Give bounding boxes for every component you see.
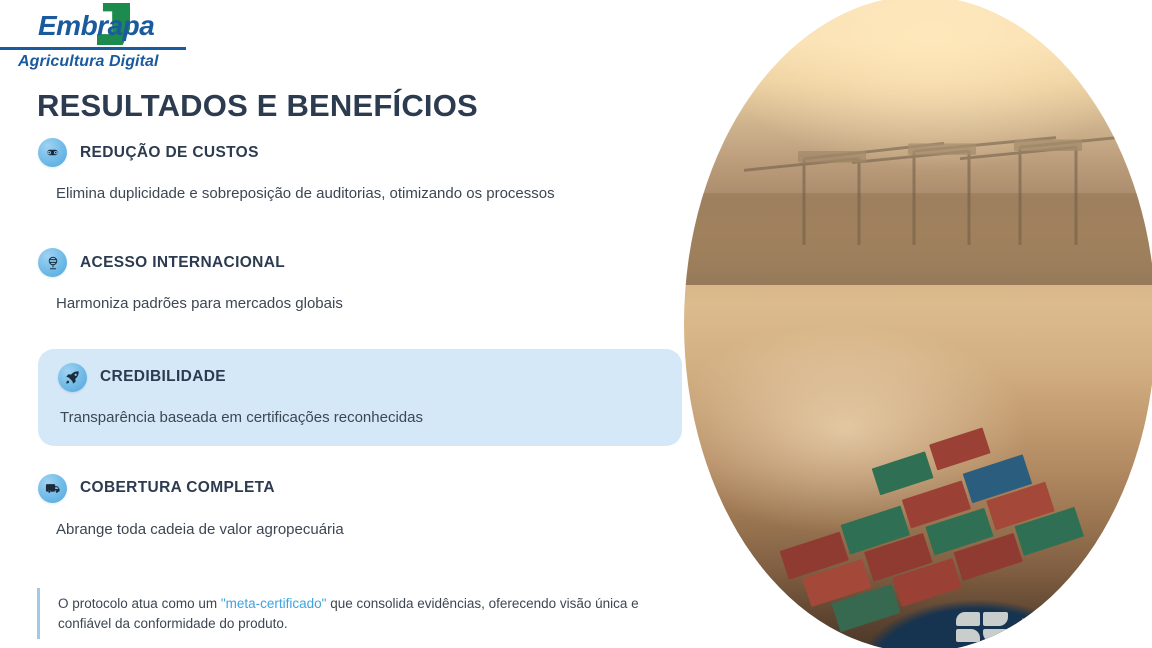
embrapa-logo: Embrapa Agricultura Digital xyxy=(0,0,190,80)
benefit-title: REDUÇÃO DE CUSTOS xyxy=(80,144,259,162)
benefit-header: CREDIBILIDADE xyxy=(58,363,662,392)
benefit-description: Harmoniza padrões para mercados globais xyxy=(56,294,670,314)
benefit-description: Elimina duplicidade e sobreposição de au… xyxy=(56,184,670,204)
benefit-item-reducao-de-custos[interactable]: REDUÇÃO DE CUSTOS Elimina duplicidade e … xyxy=(0,132,690,214)
corporate-mark: Technologies xyxy=(956,612,1140,642)
logo-divider xyxy=(0,47,186,50)
benefit-item-acesso-internacional[interactable]: ACESSO INTERNACIONAL Harmoniza padrões p… xyxy=(0,242,690,324)
benefit-header: ACESSO INTERNACIONAL xyxy=(38,248,670,277)
rocket-icon xyxy=(58,363,87,392)
corporate-mark-label: Technologies xyxy=(1022,616,1140,638)
footnote-part-1: O protocolo atua como um xyxy=(58,596,221,611)
benefit-title: CREDIBILIDADE xyxy=(100,368,226,386)
port-photo: Technologies xyxy=(684,0,1152,648)
footnote-callout: O protocolo atua como um "meta-certifica… xyxy=(37,588,685,639)
benefit-header: REDUÇÃO DE CUSTOS xyxy=(38,138,670,167)
link-chain-icon xyxy=(38,138,67,167)
page-title: RESULTADOS E BENEFÍCIOS xyxy=(37,88,478,124)
benefits-list: REDUÇÃO DE CUSTOS Elimina duplicidade e … xyxy=(0,132,690,560)
benefit-item-credibilidade[interactable]: CREDIBILIDADE Transparência baseada em c… xyxy=(38,349,682,446)
embrapa-subtitle: Agricultura Digital xyxy=(18,53,159,71)
footnote-text: O protocolo atua como um "meta-certifica… xyxy=(58,594,685,633)
benefit-title: ACESSO INTERNACIONAL xyxy=(80,254,285,272)
benefit-title: COBERTURA COMPLETA xyxy=(80,479,275,497)
benefit-item-cobertura-completa[interactable]: COBERTURA COMPLETA Abrange toda cadeia d… xyxy=(0,468,690,550)
slide-root: Technologies Embrapa Agricultura Digital… xyxy=(0,0,1152,648)
globe-icon xyxy=(38,248,67,277)
four-quadrant-icon xyxy=(956,612,1008,642)
footnote-emphasis: "meta-certificado" xyxy=(221,596,327,611)
benefit-description: Abrange toda cadeia de valor agropecuári… xyxy=(56,520,670,540)
embrapa-wordmark: Embrapa xyxy=(38,10,154,42)
benefit-header: COBERTURA COMPLETA xyxy=(38,474,670,503)
crane-silhouettes xyxy=(684,101,1152,245)
benefit-description: Transparência baseada em certificações r… xyxy=(60,408,662,428)
truck-icon xyxy=(38,474,67,503)
